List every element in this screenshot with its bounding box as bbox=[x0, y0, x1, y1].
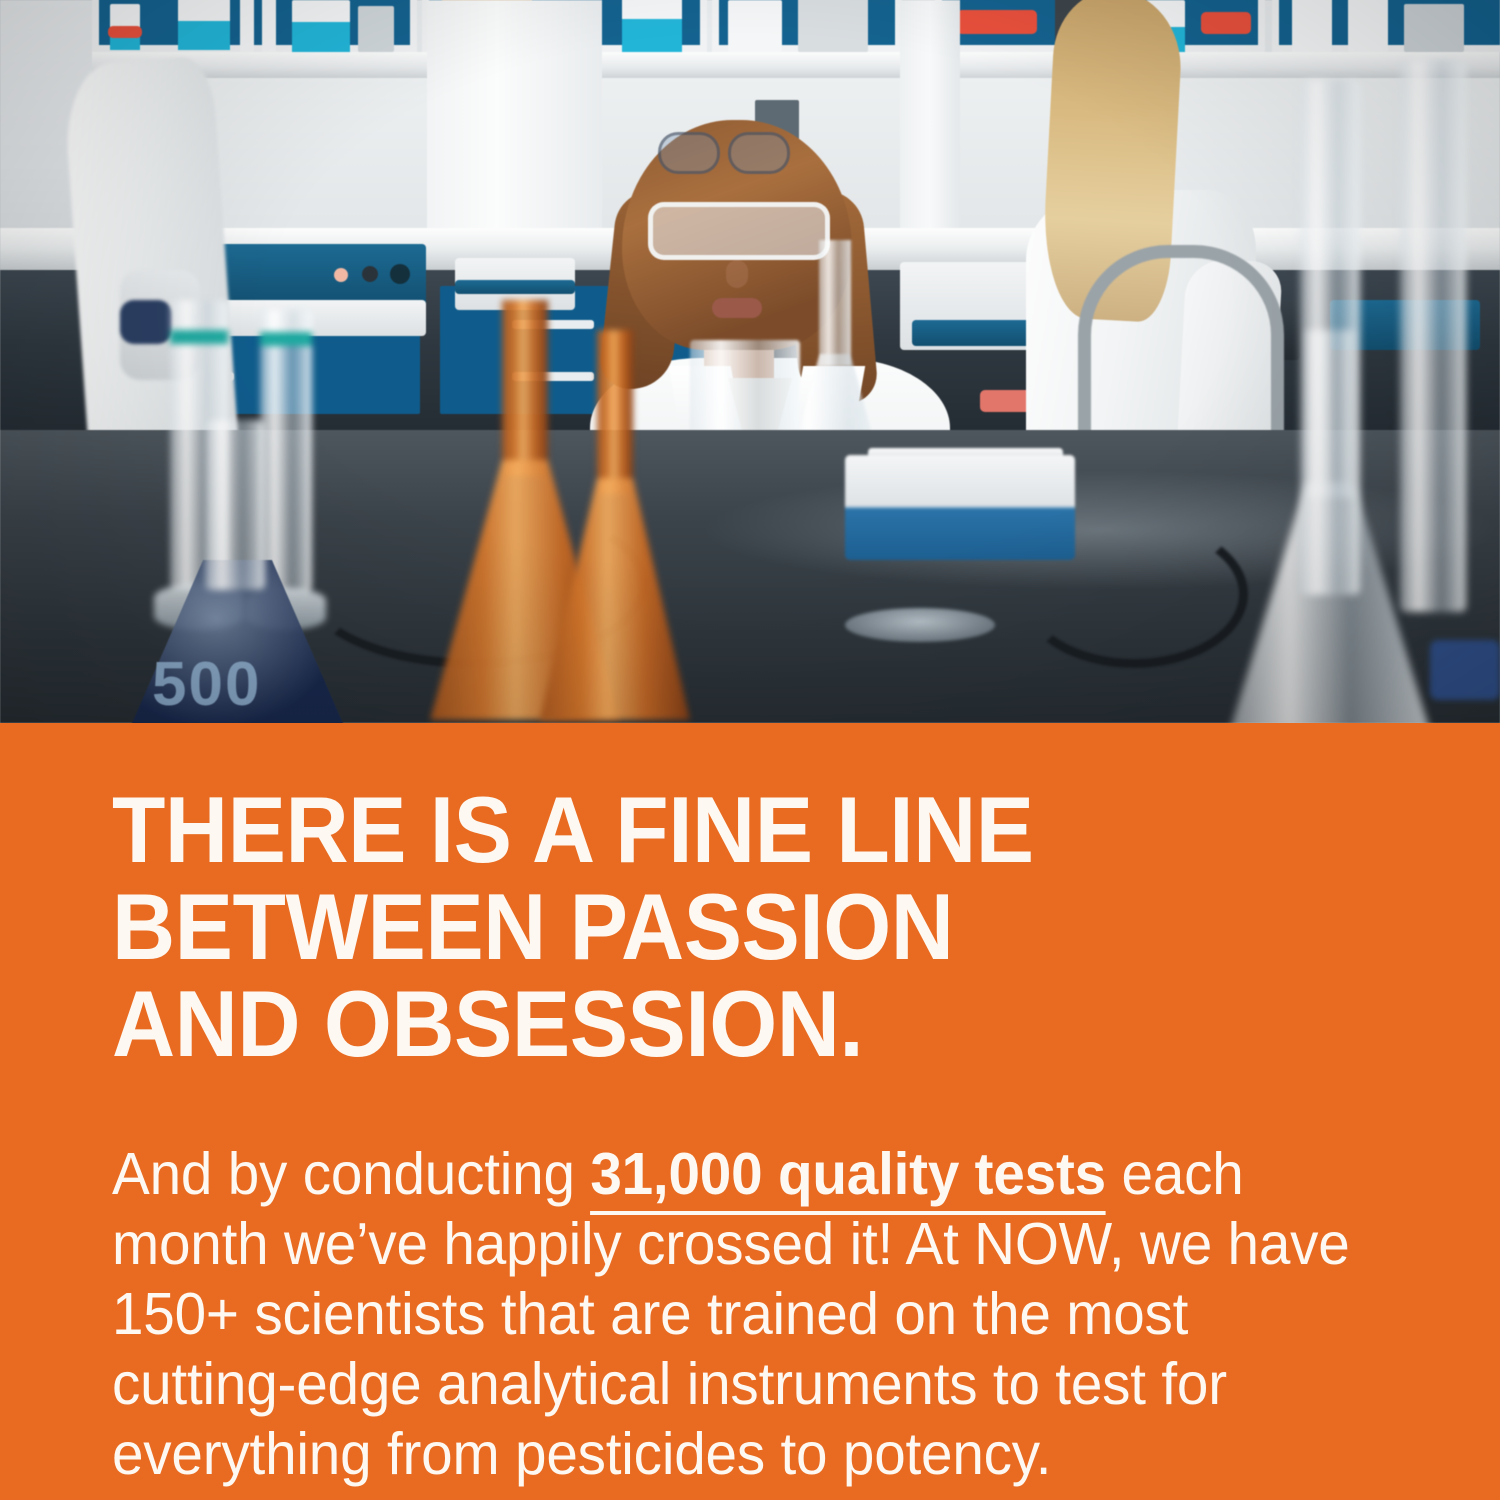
flask-neck bbox=[819, 240, 850, 366]
funnel bbox=[358, 6, 394, 52]
body-paragraph: And by conducting 31,000 quality tests e… bbox=[112, 1139, 1350, 1489]
headline-line-1: THERE IS A FINE LINE bbox=[112, 781, 1321, 878]
lab-photo: 500 bbox=[0, 0, 1500, 723]
wall-cabinet-5 bbox=[1272, 0, 1500, 52]
reagent-jar bbox=[1292, 0, 1332, 52]
orange-message-panel: THERE IS A FINE LINE BETWEEN PASSION AND… bbox=[0, 723, 1500, 1500]
reagent-jar bbox=[728, 0, 782, 52]
reagent-jar bbox=[262, 0, 276, 52]
bench-instrument-base bbox=[216, 300, 426, 336]
wall-cabinet-1 bbox=[92, 0, 417, 52]
tall-cylinder-right bbox=[1300, 80, 1360, 640]
reagent-jar bbox=[622, 0, 682, 52]
nose bbox=[726, 260, 748, 288]
wall-cabinet-3 bbox=[712, 0, 902, 52]
poster-root: 500 bbox=[0, 0, 1500, 1500]
analytical-balance bbox=[845, 455, 1075, 560]
flask-neck-500 bbox=[205, 420, 265, 590]
headline: THERE IS A FINE LINE BETWEEN PASSION AND… bbox=[112, 781, 1321, 1072]
label-tape bbox=[108, 26, 142, 38]
supply-box bbox=[1404, 4, 1464, 52]
flask-cone bbox=[540, 478, 690, 720]
headline-line-3: AND OBSESSION. bbox=[112, 975, 1321, 1072]
flask-volume-label: 500 bbox=[152, 649, 261, 720]
reagent-jar bbox=[292, 0, 350, 52]
reagent-jar bbox=[178, 0, 230, 50]
headline-line-2: BETWEEN PASSION bbox=[112, 878, 1321, 975]
watch-glass bbox=[845, 608, 995, 642]
supply-box bbox=[798, 0, 868, 52]
hotplate-panel bbox=[455, 280, 575, 294]
upper-shelf-edge bbox=[92, 52, 1500, 78]
power-cable bbox=[1020, 520, 1248, 668]
instrument-knob bbox=[390, 264, 410, 284]
body-highlight-quality-tests: 31,000 quality tests bbox=[590, 1141, 1106, 1215]
reagent-jar bbox=[240, 0, 254, 52]
instrument-knob bbox=[362, 266, 378, 282]
bench-instrument bbox=[216, 244, 426, 308]
blue-marking bbox=[1430, 640, 1500, 700]
wall-pillar bbox=[427, 0, 602, 240]
tall-cylinder-far-right bbox=[1400, 60, 1466, 660]
eyeglass-lens-left bbox=[658, 132, 720, 174]
flask-neck bbox=[597, 330, 633, 494]
status-led bbox=[334, 268, 348, 282]
reagent-jar bbox=[1348, 0, 1388, 52]
scientist-left-glove bbox=[120, 300, 172, 344]
amber-flask-2 bbox=[540, 330, 690, 720]
body-text-part-1: And by conducting bbox=[112, 1141, 590, 1207]
eyeglass-lens-right bbox=[728, 132, 790, 174]
mouth bbox=[712, 298, 762, 318]
lab-photo-scene: 500 bbox=[0, 0, 1500, 723]
